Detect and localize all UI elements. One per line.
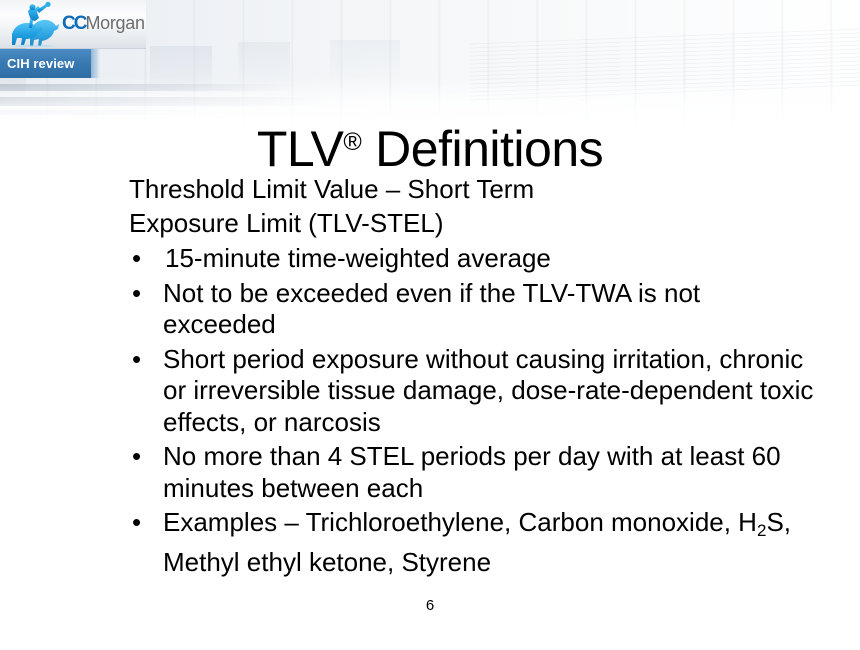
page-number: 6 bbox=[0, 597, 860, 614]
page-title-suffix: Definitions bbox=[362, 121, 603, 177]
list-item: • Not to be exceeded even if the TLV-TWA… bbox=[129, 278, 819, 341]
page-title: TLV® Definitions bbox=[0, 113, 860, 178]
bullet-marker-icon: • bbox=[132, 278, 141, 310]
logo-morgan-text: Morgan bbox=[85, 13, 144, 33]
page-title-main: TLV bbox=[257, 121, 344, 177]
slide: CCMorgan CIH review TLV® Definitions Thr… bbox=[0, 0, 860, 650]
list-item-text: 15-minute time-weighted average bbox=[165, 243, 551, 273]
list-item: • 15-minute time-weighted average bbox=[129, 243, 819, 275]
logo-panel: CCMorgan bbox=[0, 0, 146, 48]
bullet-marker-icon: • bbox=[132, 507, 141, 539]
bullet-marker-icon: • bbox=[132, 441, 141, 473]
lead-line-2: Exposure Limit (TLV-STEL) bbox=[129, 206, 819, 240]
lead-line-1: Threshold Limit Value – Short Term bbox=[129, 172, 819, 206]
logo-wordmark: CCMorgan bbox=[62, 13, 145, 34]
list-item: • Short period exposure without causing … bbox=[129, 344, 819, 439]
logo-cc-text: CC bbox=[62, 13, 85, 34]
cih-review-banner-tail bbox=[91, 49, 100, 78]
list-item-text: Not to be exceeded even if the TLV-TWA i… bbox=[163, 278, 700, 340]
list-item: • No more than 4 STEL periods per day wi… bbox=[129, 441, 819, 504]
slide-body: Threshold Limit Value – Short Term Expos… bbox=[129, 172, 819, 578]
cih-review-banner-label: CIH review bbox=[0, 56, 74, 71]
list-item-text: Short period exposure without causing ir… bbox=[163, 344, 813, 437]
list-item-text: No more than 4 STEL periods per day with… bbox=[163, 441, 781, 503]
list-item-text: Examples – Trichloroethylene, Carbon mon… bbox=[163, 507, 791, 577]
registered-trademark-icon: ® bbox=[343, 128, 361, 156]
bullet-marker-icon: • bbox=[132, 243, 141, 275]
list-item: • Examples – Trichloroethylene, Carbon m… bbox=[129, 507, 819, 578]
cih-review-banner: CIH review bbox=[0, 49, 91, 78]
polo-rider-logo-icon bbox=[8, 1, 60, 47]
bullet-list: • 15-minute time-weighted average • Not … bbox=[129, 243, 819, 578]
bullet-marker-icon: • bbox=[132, 344, 141, 376]
